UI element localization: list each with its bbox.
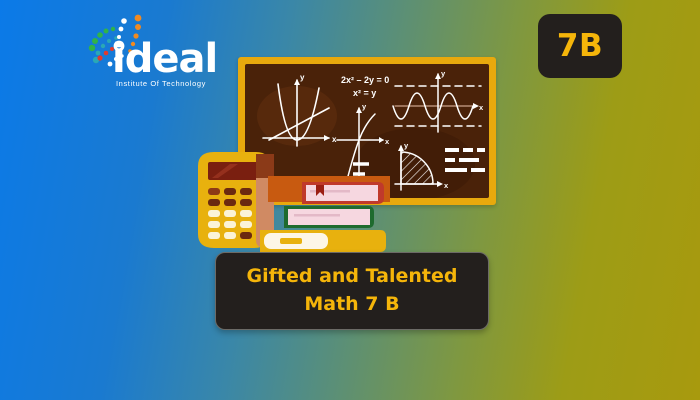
course-title-line-1: Gifted and Talented — [247, 263, 458, 291]
logo-wordmark: ideal — [112, 39, 217, 79]
course-title-line-2: Math 7 B — [304, 291, 399, 319]
books-illustration — [250, 148, 390, 258]
section-badge[interactable]: 7B — [538, 14, 622, 78]
course-card: ideal Institute Of Technology 7B — [0, 0, 700, 400]
equation-1: 2x² – 2y = 0 — [341, 75, 389, 85]
section-badge-label: 7B — [557, 28, 603, 64]
svg-text:x: x — [332, 135, 337, 144]
equation-2: x² = y — [353, 88, 376, 98]
logo-tagline: Institute Of Technology — [116, 79, 206, 88]
svg-text:x: x — [479, 103, 484, 112]
course-title-banner[interactable]: Gifted and Talented Math 7 B — [215, 252, 489, 330]
svg-text:y: y — [362, 102, 367, 111]
svg-text:y: y — [441, 69, 446, 78]
svg-text:y: y — [300, 73, 305, 82]
ideal-logo[interactable]: ideal Institute Of Technology — [86, 12, 216, 92]
